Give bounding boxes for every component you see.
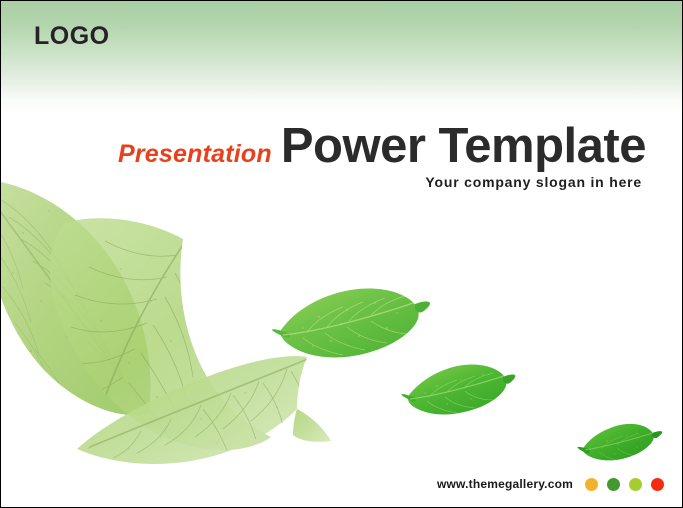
page-title: Power Template xyxy=(281,119,646,173)
company-slogan: Your company slogan in here xyxy=(1,174,642,190)
leaf-artwork xyxy=(1,1,683,508)
leaf-big-lower-left xyxy=(75,356,331,464)
footer-url[interactable]: www.themegallery.com xyxy=(437,477,573,491)
title-row: PresentationPower Template xyxy=(1,122,646,171)
dot-red xyxy=(651,478,664,491)
leaf-big-upper-left xyxy=(1,177,151,417)
dot-lime xyxy=(629,478,642,491)
leaf-floating-large xyxy=(272,288,430,357)
footer: www.themegallery.com xyxy=(437,477,664,491)
header-gradient-band xyxy=(1,1,682,113)
dot-amber xyxy=(585,478,598,491)
logo-text: LOGO xyxy=(34,24,110,49)
dot-green xyxy=(607,478,620,491)
presentation-slide: LOGO PresentationPower Template Your com… xyxy=(0,0,683,508)
title-prefix: Presentation xyxy=(118,140,281,168)
leaf-floating-small xyxy=(578,424,663,461)
leaf-cluster-background xyxy=(1,177,331,464)
leaf-floating-medium xyxy=(402,365,516,415)
leaf-big-middle-left xyxy=(50,218,271,450)
